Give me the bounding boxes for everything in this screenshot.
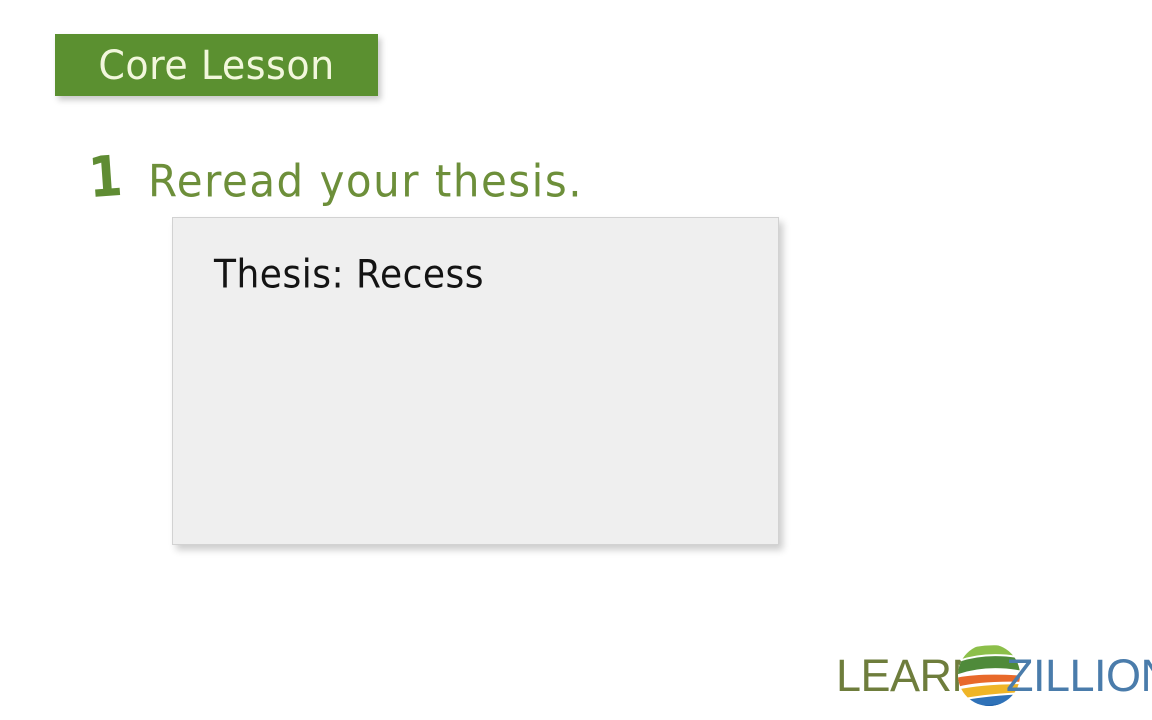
step-heading: 1 Reread your thesis. <box>88 150 583 206</box>
thesis-content-box: Thesis: Recess <box>172 217 779 545</box>
step-instruction-text: Reread your thesis. <box>148 160 583 204</box>
core-lesson-banner-label: Core Lesson <box>98 45 334 85</box>
learnzillion-logo: LEARN <box>836 640 1144 710</box>
thesis-statement-text: Thesis: Recess <box>214 256 484 295</box>
step-number: 1 <box>87 149 124 207</box>
logo-word-zillion: ZILLION <box>1006 653 1152 698</box>
core-lesson-banner: Core Lesson <box>55 34 378 96</box>
